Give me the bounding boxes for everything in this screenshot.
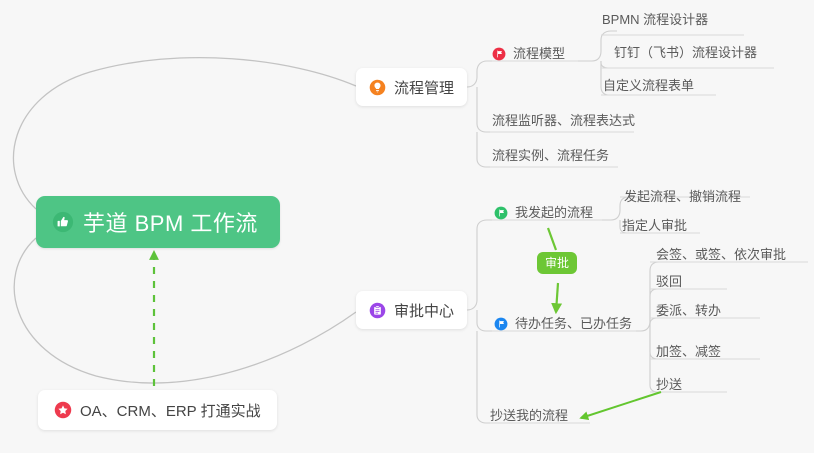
connector-flow-model-to-dingtalk <box>601 61 613 68</box>
topic-todo-done-task[interactable]: 待办任务、已办任务 <box>494 316 632 335</box>
topic-custom-flow-form[interactable]: 自定义流程表单 <box>603 78 694 97</box>
connector-flow-model-spine <box>576 31 617 61</box>
topic-delegate-transfer[interactable]: 委派、转办 <box>656 303 721 322</box>
topic-add-remove-sign[interactable]: 加签、减签 <box>656 344 721 363</box>
topic-countersign[interactable]: 会签、或签、依次审批 <box>656 247 786 266</box>
topic-flow-instance-task[interactable]: 流程实例、流程任务 <box>492 148 609 167</box>
topic-start-cancel-flow[interactable]: 发起流程、撤销流程 <box>624 189 741 208</box>
topic-assignee-approval[interactable]: 指定人审批 <box>622 218 687 237</box>
topic-carbon-copy[interactable]: 抄送 <box>656 377 682 396</box>
topic-reject[interactable]: 驳回 <box>656 274 682 293</box>
floating-label-oa-crm-erp: OA、CRM、ERP 打通实战 <box>80 400 261 421</box>
topic-flow-listener-expression[interactable]: 流程监听器、流程表达式 <box>492 113 635 132</box>
branch-label-flow-management: 流程管理 <box>394 77 454 98</box>
topic-cc-to-me-flow[interactable]: 抄送我的流程 <box>490 408 568 427</box>
topic-label-flow-model: 流程模型 <box>513 46 565 61</box>
connector-approval-center-to-todo <box>477 310 492 331</box>
connector-root-to-approval-center <box>14 238 356 383</box>
root-node[interactable]: 芋道 BPM 工作流 <box>36 196 280 248</box>
floating-node-oa-crm-erp[interactable]: OA、CRM、ERP 打通实战 <box>38 390 277 430</box>
flag-icon <box>494 317 508 331</box>
thumbs-up-icon <box>52 211 74 233</box>
topic-label-my-initiated-flow: 我发起的流程 <box>515 205 593 220</box>
clipboard-icon <box>369 302 386 319</box>
branch-node-approval-center[interactable]: 审批中心 <box>356 291 467 329</box>
connector-flow-management-to-listener <box>477 87 492 132</box>
star-icon <box>54 401 72 419</box>
topic-bpmn-designer[interactable]: BPMN 流程设计器 <box>602 12 708 31</box>
flag-icon <box>492 47 506 61</box>
topic-flow-model[interactable]: 流程模型 <box>492 46 565 65</box>
topic-my-initiated-flow[interactable]: 我发起的流程 <box>494 205 593 224</box>
connector-root-to-flow-management <box>13 58 356 209</box>
accent-arrow-callout-to-todo <box>556 283 558 312</box>
branch-node-flow-management[interactable]: 流程管理 <box>356 68 467 106</box>
connector-flow-management-to-instance <box>477 132 492 167</box>
lightbulb-icon <box>369 79 386 96</box>
branch-label-approval-center: 审批中心 <box>394 300 454 321</box>
accent-arrow-cc-to-ccflow <box>581 392 661 418</box>
topic-dingtalk-feishu-designer[interactable]: 钉钉（飞书）流程设计器 <box>614 45 757 64</box>
mindmap-canvas: 芋道 BPM 工作流 流程管理 审批中心 OA、CRM、ERP 打通实战 <box>0 0 814 453</box>
callout-approve[interactable]: 审批 <box>537 252 577 274</box>
topic-label-todo-done-task: 待办任务、已办任务 <box>515 316 632 331</box>
root-label: 芋道 BPM 工作流 <box>83 206 258 238</box>
flag-icon <box>494 206 508 220</box>
accent-arrow-initiated-to-todo <box>548 228 556 250</box>
